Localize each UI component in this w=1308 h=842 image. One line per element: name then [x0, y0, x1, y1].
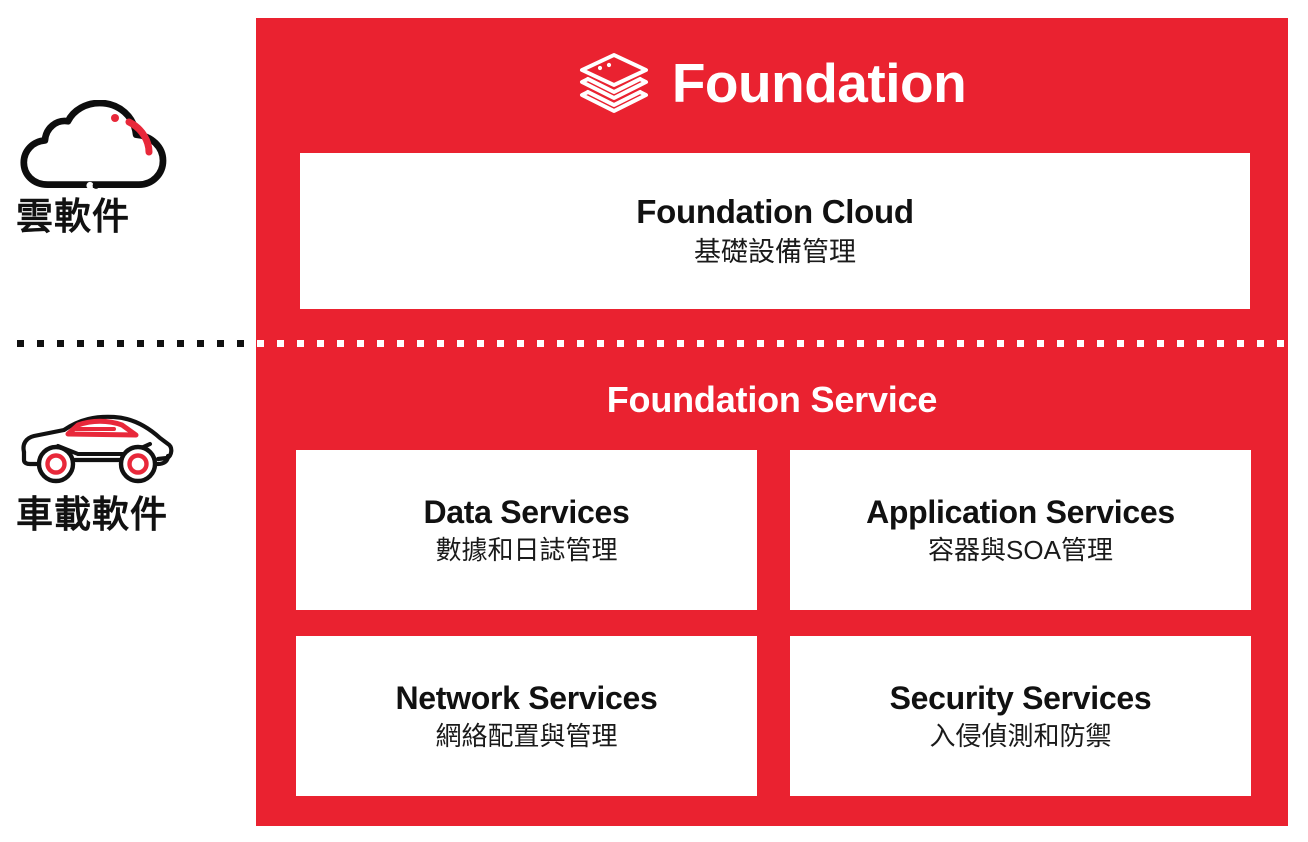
legend-item-cloud: 雲軟件 — [0, 100, 256, 239]
card-security-services[interactable]: Security Services 入侵偵測和防禦 — [790, 636, 1251, 796]
cloud-icon — [10, 100, 185, 192]
card-application-services[interactable]: Application Services 容器與SOA管理 — [790, 450, 1251, 610]
card-data-services[interactable]: Data Services 數據和日誌管理 — [296, 450, 757, 610]
legend-label-cloud: 雲軟件 — [16, 196, 256, 239]
card-subtitle: 網絡配置與管理 — [435, 720, 617, 754]
legend-item-vehicle: 車載軟件 — [0, 398, 256, 537]
card-subtitle: 數據和日誌管理 — [435, 534, 617, 568]
car-icon — [10, 398, 185, 490]
panel-header: Foundation — [256, 40, 1288, 126]
card-network-services[interactable]: Network Services 網絡配置與管理 — [296, 636, 757, 796]
service-section-heading: Foundation Service — [256, 378, 1288, 421]
card-foundation-cloud[interactable]: Foundation Cloud 基礎設備管理 — [300, 153, 1250, 309]
foundation-panel: Foundation Foundation Cloud 基礎設備管理 Found… — [256, 18, 1288, 826]
card-subtitle: 基礎設備管理 — [694, 235, 856, 270]
card-subtitle: 入侵偵測和防禦 — [929, 720, 1111, 754]
section-divider-dotted-line-on-panel — [256, 340, 1288, 347]
page-title: Foundation — [672, 56, 966, 111]
card-subtitle: 容器與SOA管理 — [928, 534, 1113, 568]
layers-stack-icon — [578, 51, 650, 115]
legend-column: 雲軟件 — [0, 0, 256, 842]
card-title: Network Services — [395, 679, 657, 718]
card-title: Application Services — [866, 493, 1175, 532]
card-title: Data Services — [423, 493, 629, 532]
card-title: Foundation Cloud — [636, 192, 913, 232]
card-title: Security Services — [890, 679, 1152, 718]
service-card-grid: Data Services 數據和日誌管理 Application Servic… — [296, 450, 1256, 796]
legend-label-vehicle: 車載軟件 — [16, 494, 256, 537]
